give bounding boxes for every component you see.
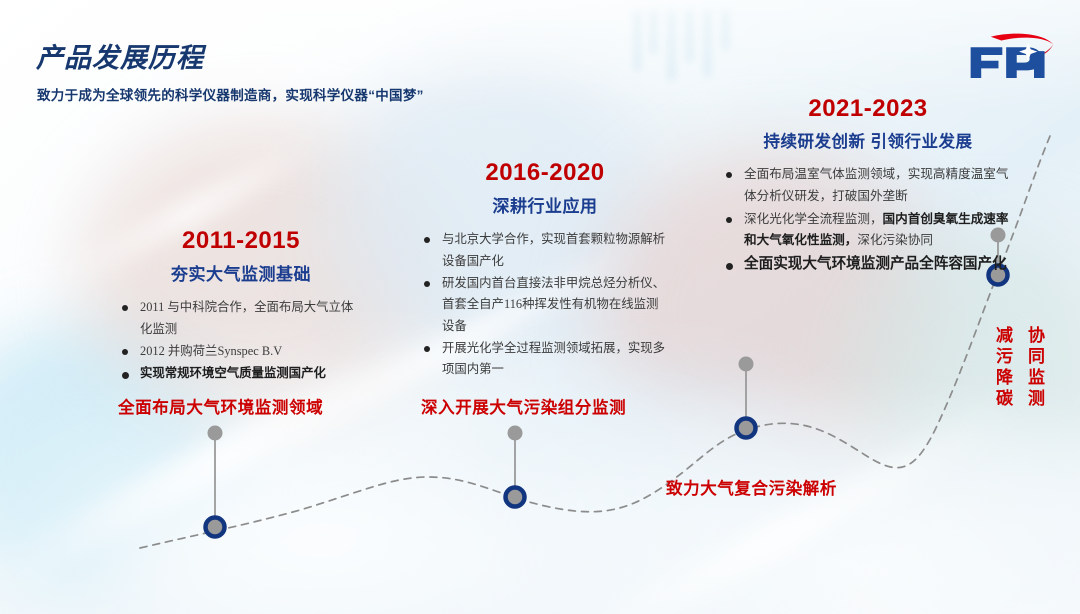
milestone-heading: 深耕行业应用 — [420, 192, 670, 217]
milestone-caption-3: 致力大气复合污染解析 — [666, 475, 837, 499]
milestone-year: 2016-2020 — [420, 160, 670, 186]
list-item: 2011 与中科院合作，全面布局大气立体化监测 — [118, 297, 364, 340]
timeline-node-3 — [737, 357, 756, 438]
milestone-2021-2023: 2021-2023 持续研发创新 引领行业发展 全面布局温室气体监测领域，实现高… — [722, 96, 1014, 277]
milestone-2016-2020: 2016-2020 深耕行业应用 与北京大学合作，实现首套颗粒物源解析设备国产化… — [420, 160, 670, 382]
milestone-year: 2011-2015 — [118, 228, 364, 254]
vertical-slogan-right: 协同监测 — [1026, 326, 1043, 410]
milestone-year: 2021-2023 — [722, 96, 1014, 122]
milestone-bullet-list: 2011 与中科院合作，全面布局大气立体化监测 2012 并购荷兰Synspec… — [118, 297, 364, 384]
milestone-bullet-list: 与北京大学合作，实现首套颗粒物源解析设备国产化 研发国内首台直接法非甲烷总烃分析… — [420, 229, 670, 380]
milestone-heading: 夯实大气监测基础 — [118, 260, 364, 285]
list-item: 深化光化学全流程监测，国内首创臭氧生成速率和大气氧化性监测，深化污染协同 — [722, 209, 1014, 252]
list-item: 实现常规环境空气质量监测国产化 — [118, 363, 364, 384]
list-item-text-a: 深化光化学全流程监测， — [744, 212, 883, 226]
timeline-node-1 — [206, 426, 225, 537]
milestone-caption-2: 深入开展大气污染组分监测 — [421, 394, 626, 418]
list-item: 与北京大学合作，实现首套颗粒物源解析设备国产化 — [420, 229, 670, 272]
list-item: 全面布局温室气体监测领域，实现高精度温室气体分析仪研发，打破国外垄断 — [722, 164, 1014, 207]
vertical-slogan-left: 减污降碳 — [994, 326, 1011, 410]
list-item: 2012 并购荷兰Synspec B.V — [118, 341, 364, 362]
list-item: 全面实现大气环境监测产品全阵容国产化 — [722, 253, 1014, 276]
list-item-text-b: 深化污染协同 — [857, 233, 933, 247]
milestone-2011-2015: 2011-2015 夯实大气监测基础 2011 与中科院合作，全面布局大气立体化… — [118, 228, 364, 386]
timeline-node-2 — [506, 426, 525, 507]
milestone-caption-1: 全面布局大气环境监测领域 — [118, 394, 323, 418]
list-item: 开展光化学全过程监测领域拓展，实现多项国内第一 — [420, 338, 670, 381]
slide-canvas: 产品发展历程 致力于成为全球领先的科学仪器制造商，实现科学仪器“中国梦” — [0, 0, 1080, 614]
milestone-bullet-list: 全面布局温室气体监测领域，实现高精度温室气体分析仪研发，打破国外垄断 深化光化学… — [722, 164, 1014, 276]
list-item: 研发国内首台直接法非甲烷总烃分析仪、首套全自产116种挥发性有机物在线监测设备 — [420, 273, 670, 337]
milestone-heading: 持续研发创新 引领行业发展 — [722, 128, 1014, 152]
